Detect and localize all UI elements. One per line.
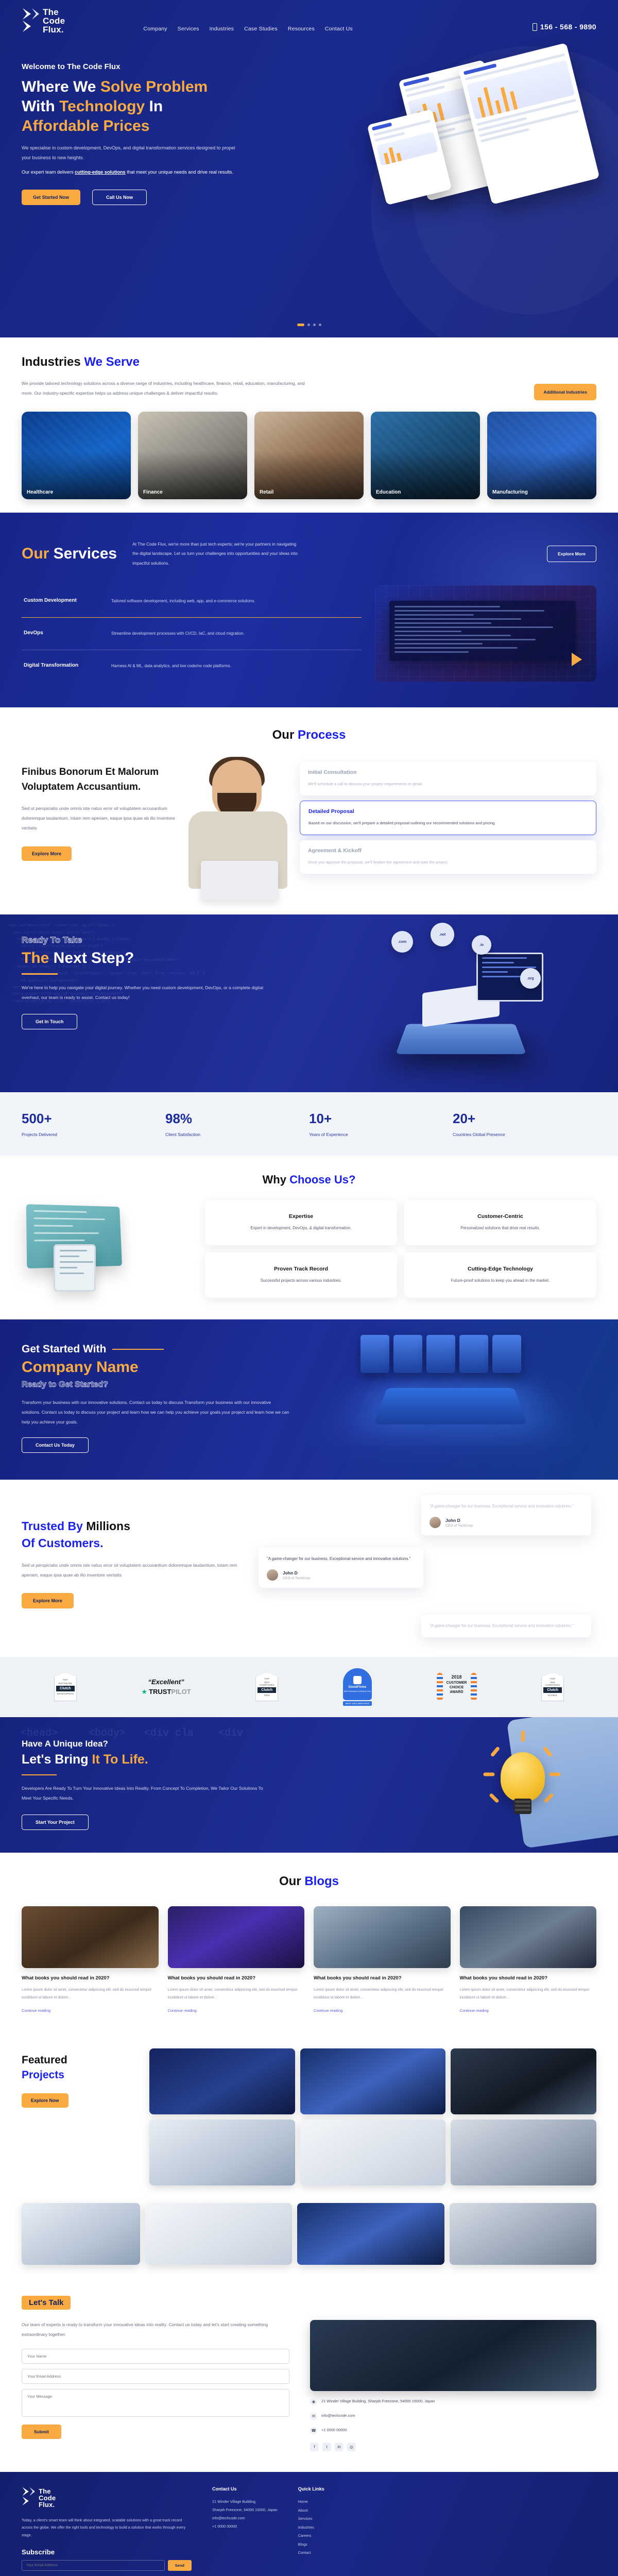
featured-title-dark: Featured xyxy=(22,2054,67,2066)
goodfirms-icon: GoodFirms B2B Research & Review Firm xyxy=(343,1668,372,1700)
blog-card-3[interactable]: What books you should read in 2020? Lore… xyxy=(314,1906,451,2014)
blogs-title-dark: Our xyxy=(279,1874,304,1888)
unique-idea-kicker: Have A Unique Idea? xyxy=(22,1739,264,1749)
testimonial-card-back-top[interactable]: "A game-changer for our business. Except… xyxy=(421,1495,591,1535)
trustpilot-star-icon: ★ xyxy=(141,1688,147,1696)
testimonial-cards: "A game-changer for our business. Except… xyxy=(259,1502,596,1641)
services-description: At The Code Flux, we're more than just t… xyxy=(132,539,302,568)
code-screen-mock xyxy=(389,601,576,661)
testimonial-quote: "A game-changer for our business. Except… xyxy=(430,1502,583,1511)
hero-headline-line2-white: With xyxy=(22,98,59,115)
blog-title: What books you should read in 2020? xyxy=(314,1975,451,1981)
stats-section: 500+ Projects Delivered 98% Client Satis… xyxy=(0,1092,618,1156)
hero-headline-line3-amber: Affordable Prices xyxy=(22,117,149,134)
next-step-headline-amber: The xyxy=(22,950,54,967)
footer-contact-item: 21 Winder Village Building, xyxy=(212,2498,278,2506)
footer-contact-item[interactable]: +1 0000 00000 xyxy=(212,2522,278,2531)
services-body: Custom Development Tailored software dev… xyxy=(22,585,596,682)
testimonial-role: CEO of TechCorp xyxy=(445,1524,473,1528)
domain-bubble-io: .io xyxy=(472,935,491,955)
idea-headline-amber: It To Life. xyxy=(92,1752,148,1767)
brand-line-2: Code xyxy=(43,16,65,25)
why-card-cutting-edge-technology[interactable]: Cutting-Edge Technology Future-proof sol… xyxy=(404,1252,596,1298)
testimonial-card-front[interactable]: "A game-changer for our business. Except… xyxy=(259,1548,423,1588)
industry-card-list: Healthcare Finance Retail Education Manu xyxy=(22,412,596,499)
lets-talk-body: Our team of experts is ready to transfor… xyxy=(22,2320,596,2451)
featured-tile-8[interactable] xyxy=(145,2203,292,2265)
nav-link-services[interactable]: Services xyxy=(178,26,199,32)
services-explore-more-button[interactable]: Explore More xyxy=(547,546,596,562)
stat-label: Client Satisfaction xyxy=(165,1132,309,1137)
hero-headline-line2-tail: In xyxy=(145,98,163,115)
mobile-phone-icon xyxy=(533,23,537,31)
featured-tile-1[interactable] xyxy=(149,2048,295,2114)
twitter-icon[interactable]: t xyxy=(322,2443,331,2451)
footer-subscribe: Subscribe Send xyxy=(22,2548,192,2571)
step-title: Detailed Proposal xyxy=(308,808,588,815)
process-title-blue: Process xyxy=(298,728,346,742)
phone-icon: ☎ xyxy=(310,2427,317,2434)
stat-value: 98% xyxy=(165,1111,309,1127)
industry-label: Retail xyxy=(260,489,273,495)
get-in-touch-button[interactable]: Get In Touch xyxy=(22,1014,77,1029)
service-text: Streamline development processes with CI… xyxy=(111,629,245,638)
trustpilot-wordmark: ★ TRUSTPILOT xyxy=(141,1688,191,1696)
featured-extra-row xyxy=(0,2203,618,2280)
featured-tile-9[interactable] xyxy=(297,2203,444,2265)
featured-tile-4[interactable] xyxy=(149,2120,295,2185)
get-started-paragraph: Transform your business with our innovat… xyxy=(22,1398,289,1427)
stat-value: 20+ xyxy=(453,1111,596,1127)
process-copy: Finibus Bonorum Et Malorum Voluptatem Ac… xyxy=(22,760,176,899)
get-started-copy: Get Started With Company Name Ready to G… xyxy=(22,1343,289,1453)
stat-value: 10+ xyxy=(309,1111,453,1127)
testimonials-explore-more-button[interactable]: Explore More xyxy=(22,1593,74,1608)
industries-title: Industries We Serve xyxy=(22,355,596,369)
footer-about: The Code Flux. Today, a client's smart t… xyxy=(22,2486,192,2571)
page-footer: The Code Flux. Today, a client's smart t… xyxy=(0,2472,618,2576)
lightbulb-icon xyxy=(489,1739,556,1826)
header-phone-number: 156 - 568 - 9890 xyxy=(540,23,596,31)
hero-copy: Welcome to The Code Flux Where We Solve … xyxy=(0,34,288,205)
footer-contact-item[interactable]: info@techcode.com xyxy=(212,2514,278,2522)
facebook-icon[interactable]: f xyxy=(310,2443,319,2451)
goodfirms-name: GoodFirms xyxy=(349,1685,367,1689)
email-field[interactable] xyxy=(22,2369,289,2384)
blog-thumbnail xyxy=(314,1906,451,1968)
additional-industries-button[interactable]: Additional Industries xyxy=(534,384,596,400)
industry-label: Healthcare xyxy=(27,489,53,495)
name-field[interactable] xyxy=(22,2349,289,2364)
next-step-paragraph: We're here to help you navigate your dig… xyxy=(22,983,264,1003)
industries-section: Industries We Serve We provide tailored … xyxy=(0,337,618,513)
why-card-expertise[interactable]: Expertise Expert in development, DevOps,… xyxy=(205,1200,397,1245)
blog-thumbnail xyxy=(168,1906,305,1968)
testimonials-title-blue-2: Of Customers. xyxy=(22,1536,103,1550)
stat-label: Countries Global Presence xyxy=(453,1132,596,1137)
trustpilot-word-b: PILOT xyxy=(171,1688,191,1696)
service-name: Digital Transformation xyxy=(24,662,111,671)
iso-card-stack xyxy=(360,1335,521,1373)
blog-title: What books you should read in 2020? xyxy=(460,1975,597,1981)
footer-top: The Code Flux. Today, a client's smart t… xyxy=(22,2486,596,2571)
clutch-shield-icon: TOP SOFTWARE Clutch DEVELOPERS xyxy=(54,1672,77,1701)
step-title: Agreement & Kickoff xyxy=(308,848,588,854)
unique-idea-headline: Let's Bring It To Life. xyxy=(22,1752,264,1767)
hero-headline-line1-amber: Solve Problem xyxy=(100,78,208,95)
next-step-illustration: .com .net .io .org xyxy=(371,932,556,1076)
lets-talk-intro: Our team of experts is ready to transfor… xyxy=(22,2320,289,2340)
process-person-photo xyxy=(181,760,295,899)
blogs-title-blue: Blogs xyxy=(304,1874,339,1888)
why-title-dark: Why xyxy=(263,1173,290,1186)
badge-brand: Clutch xyxy=(56,1686,75,1691)
blogs-section: Our Blogs What books you should read in … xyxy=(0,1853,618,2035)
badge-brand: Clutch xyxy=(257,1687,276,1693)
footer-contact-column: Contact Us 21 Winder Village Building, S… xyxy=(212,2486,278,2571)
goodfirms-logo-mark xyxy=(353,1676,362,1684)
testimonial-quote: "A game-changer for our business. Except… xyxy=(267,1555,415,1563)
featured-tile-10[interactable] xyxy=(450,2203,596,2265)
nav-link-contact-us[interactable]: Contact Us xyxy=(325,26,353,32)
footer-quick-heading: Quick Links xyxy=(298,2486,375,2492)
domain-bubble-com: .com xyxy=(391,931,413,953)
award-badge-clutch-b2b: TOP B2B COMPANIES Clutch GLOBAL xyxy=(541,1672,564,1701)
instagram-icon[interactable]: ◎ xyxy=(347,2443,356,2451)
badge-top: TOP xyxy=(550,1677,555,1680)
contact-phone[interactable]: ☎ +1 0000 00000 xyxy=(310,2427,596,2434)
domain-bubble-net: .net xyxy=(431,923,454,946)
footer-brand-logo[interactable]: The Code Flux. xyxy=(22,2486,192,2510)
industry-card-retail[interactable]: Retail xyxy=(254,412,364,499)
industry-label: Finance xyxy=(143,489,163,495)
footer-link-industries[interactable]: Industries xyxy=(298,2523,375,2532)
why-card-text: Expert in development, DevOps, & digital… xyxy=(213,1224,389,1232)
why-card-text: Personalized solutions that drive real r… xyxy=(413,1224,588,1232)
blog-card-2[interactable]: What books you should read in 2020? Lore… xyxy=(168,1906,305,2014)
stat-years-of-experience: 10+ Years of Experience xyxy=(309,1111,453,1137)
process-step-detailed-proposal[interactable]: Detailed Proposal Based on our discussio… xyxy=(300,801,596,835)
testimonials-paragraph: Sed ut perspiciatis unde omnis iste natu… xyxy=(22,1561,243,1580)
testimonials-copy: Trusted By Millions Of Customers. Sed ut… xyxy=(22,1502,243,1641)
industry-label: Manufacturing xyxy=(492,489,528,495)
process-paragraph: Sed ut perspiciatis unde omnis iste natu… xyxy=(22,804,176,833)
glowing-platform xyxy=(374,1388,527,1425)
footer-link-blogs[interactable]: Blogs xyxy=(298,2540,375,2549)
get-started-kicker: Get Started With xyxy=(22,1343,106,1355)
award-badge-customer-choice: 2018 CUSTOMER CHOICE AWARD xyxy=(437,1671,477,1703)
step-title: Initial Consultation xyxy=(308,769,588,775)
hero-headline-line2-amber: Technology xyxy=(59,98,145,115)
badge-sub: SEO COMPANIES xyxy=(257,1681,276,1686)
message-field[interactable] xyxy=(22,2389,289,2417)
nav-link-industries[interactable]: Industries xyxy=(210,26,234,32)
contact-social-links: f t in ◎ xyxy=(310,2443,596,2451)
carousel-dot-4[interactable] xyxy=(319,324,321,326)
industries-title-blue: We Serve xyxy=(84,355,140,369)
footer-link-services[interactable]: Services xyxy=(298,2515,375,2523)
goodfirms-tag: B2B Research & Review Firm xyxy=(344,1690,371,1692)
why-title-blue: Choose Us? xyxy=(289,1173,355,1186)
phone-mockup xyxy=(54,1244,96,1292)
process-title: Our Process xyxy=(22,728,596,742)
featured-title-blue: Projects xyxy=(22,2069,64,2081)
service-row-devops[interactable]: DevOps Streamline development processes … xyxy=(22,617,362,650)
start-your-project-button[interactable]: Start Your Project xyxy=(22,1815,89,1830)
contact-address: ◉ 21 Winder Village Building, Sharjah Fr… xyxy=(310,2398,596,2405)
trustpilot-excellent: “Excellent” xyxy=(148,1678,184,1686)
featured-projects-section: Featured Projects Explore Now xyxy=(0,2035,618,2203)
contact-phone-text: +1 0000 00000 xyxy=(321,2427,347,2434)
kicker-underline xyxy=(112,1349,164,1350)
avatar xyxy=(430,1517,441,1528)
footer-link-about[interactable]: About xyxy=(298,2506,375,2515)
contact-photo xyxy=(310,2320,596,2391)
chevron-logo-icon xyxy=(22,2486,35,2510)
carousel-dot-3[interactable] xyxy=(313,324,316,326)
industry-card-healthcare[interactable]: Healthcare xyxy=(22,412,131,499)
footer-link-home[interactable]: Home xyxy=(298,2498,375,2506)
get-started-kicker-row: Get Started With xyxy=(22,1343,289,1355)
services-section: Our Services At The Code Flux, we're mor… xyxy=(0,513,618,707)
award-badge-trustpilot: “Excellent” ★ TRUSTPILOT xyxy=(141,1678,191,1696)
header-phone[interactable]: 156 - 568 - 9890 xyxy=(533,23,596,31)
testimonial-name: John D xyxy=(283,1570,310,1575)
nav-link-company[interactable]: Company xyxy=(143,26,167,32)
badge-sub: SOFTWARE xyxy=(58,1682,72,1685)
stat-projects-delivered: 500+ Projects Delivered xyxy=(22,1111,165,1137)
process-steps: Initial Consultation We'll schedule a ca… xyxy=(300,760,596,899)
award-badge-clutch-software: TOP SOFTWARE Clutch DEVELOPERS xyxy=(54,1672,77,1701)
hero-paragraph-2: Our expert team delivers cutting-edge so… xyxy=(22,167,243,177)
iso-platform xyxy=(396,1024,526,1055)
play-triangle-icon[interactable] xyxy=(572,653,582,666)
domain-bubble-org: .org xyxy=(520,968,541,989)
footer-contact-item: Sharjah Freezone, 54000 15000, Japan xyxy=(212,2506,278,2514)
subscribe-input[interactable] xyxy=(22,2560,165,2571)
why-card-title: Expertise xyxy=(213,1213,389,1219)
footer-quick-links-column: Quick Links Home About Services Industri… xyxy=(298,2486,375,2571)
process-step-agreement-kickoff[interactable]: Agreement & Kickoff Once you approve the… xyxy=(300,840,596,874)
hero-headline-line1-white: Where We xyxy=(22,78,100,95)
blog-title: What books you should read in 2020? xyxy=(168,1975,305,1981)
next-step-rule xyxy=(22,973,58,975)
testimonials-title-blue: Trusted By xyxy=(22,1519,86,1533)
location-pin-icon: ◉ xyxy=(310,2398,317,2405)
footer-contact-heading: Contact Us xyxy=(212,2486,278,2492)
testimonials-section: Trusted By Millions Of Customers. Sed ut… xyxy=(0,1480,618,1657)
footer-link-contact[interactable]: Contact xyxy=(298,2549,375,2557)
step-text: Once you approve the proposal, we'll fin… xyxy=(308,858,588,867)
testimonial-role: CEO of TechCorp xyxy=(283,1577,310,1580)
hero-paragraph-2-pre: Our expert team delivers xyxy=(22,170,75,175)
blog-thumbnail xyxy=(460,1906,597,1968)
person-laptop xyxy=(201,861,278,900)
nav-link-case-studies[interactable]: Case Studies xyxy=(244,26,278,32)
unique-idea-paragraph: Developers Are Ready To Turn Your Innova… xyxy=(22,1784,264,1803)
submit-button[interactable]: Submit xyxy=(22,2425,61,2439)
featured-grid-wrapper xyxy=(149,2048,596,2185)
blog-continue-reading-link[interactable]: Continue reading xyxy=(314,2008,342,2013)
carousel-dot-2[interactable] xyxy=(307,324,310,326)
testimonials-title-dark: Millions xyxy=(86,1519,130,1533)
why-choose-body: Expertise Expert in development, DevOps,… xyxy=(22,1200,596,1298)
chevron-logo-icon xyxy=(22,7,39,34)
get-started-subheading: Ready to Get Started? xyxy=(22,1380,289,1389)
why-card-text: Successful projects across various indus… xyxy=(213,1277,389,1285)
blog-excerpt: Lorem ipsum dolor sit amet, consectetur … xyxy=(460,1986,597,2001)
featured-grid-row-1 xyxy=(149,2048,596,2114)
footer-brand-name: The Code Flux. xyxy=(39,2488,56,2508)
blog-excerpt: Lorem ipsum dolor sit amet, consectetur … xyxy=(168,1986,305,2001)
process-explore-more-button[interactable]: Explore More xyxy=(22,846,72,861)
blog-continue-reading-link[interactable]: Continue reading xyxy=(22,2008,50,2013)
award-badge-goodfirms: GoodFirms B2B Research & Review Firm BES… xyxy=(343,1668,372,1706)
process-heading: Finibus Bonorum Et Malorum Voluptatem Ac… xyxy=(22,765,176,794)
hero-paragraph-1: We specialise in custom development, Dev… xyxy=(22,143,243,162)
contact-email-text: info@techcode.com xyxy=(321,2413,355,2419)
linkedin-icon[interactable]: in xyxy=(335,2443,344,2451)
award-badge-clutch-seo: TOP SEO COMPANIES Clutch 2020 xyxy=(255,1672,278,1701)
industry-card-finance[interactable]: Finance xyxy=(138,412,247,499)
subscribe-label: Subscribe xyxy=(22,2548,192,2556)
badge-sub: B2B COMPANIES xyxy=(543,1681,562,1686)
service-row-custom-development[interactable]: Custom Development Tailored software dev… xyxy=(22,585,362,617)
unique-idea-section: <head> <body> <div cla <div Have A Uniqu… xyxy=(0,1717,618,1853)
page-root: The Code Flux. Company Services Industri… xyxy=(0,0,618,2576)
blog-excerpt: Lorem ipsum dolor sit amet, consectetur … xyxy=(314,1986,451,2001)
nav-links: Company Services Industries Case Studies… xyxy=(143,26,353,32)
next-step-section: <div id="devtn-core" class="slab" ng-if=… xyxy=(0,914,618,1092)
brand-logo[interactable]: The Code Flux. xyxy=(22,7,65,34)
trustpilot-word-a: TRUST xyxy=(149,1688,171,1696)
testimonial-card-back-bottom[interactable]: "A game-changer for our business. Except… xyxy=(421,1615,591,1637)
why-choose-illustration xyxy=(22,1200,192,1298)
get-started-illustration xyxy=(294,1330,618,1480)
step-text: We'll schedule a call to discuss your pr… xyxy=(308,780,588,788)
hero-paragraph-2-post: that meet your unique needs and drive re… xyxy=(126,170,233,175)
why-card-customer-centric[interactable]: Customer-Centric Personalized solutions … xyxy=(404,1200,596,1245)
services-title-white: Services xyxy=(54,545,117,562)
hero-carousel-dots[interactable] xyxy=(0,324,618,326)
featured-tile-5[interactable] xyxy=(300,2120,446,2185)
testimonial-author: John D CEO of TechCorp xyxy=(430,1517,583,1528)
testimonial-author: John D CEO of TechCorp xyxy=(267,1569,415,1581)
hero-headline: Where We Solve Problem With Technology I… xyxy=(22,77,288,135)
industry-label: Education xyxy=(376,489,401,495)
blog-card-4[interactable]: What books you should read in 2020? Lore… xyxy=(460,1906,597,2014)
featured-projects-title: Featured Projects xyxy=(22,2053,140,2083)
services-list: Custom Development Tailored software dev… xyxy=(22,585,362,682)
brand-name: The Code Flux. xyxy=(43,8,65,34)
bulb-base xyxy=(514,1799,531,1814)
get-started-now-button[interactable]: Get Started Now xyxy=(22,190,80,205)
brand-line-1: The xyxy=(43,8,65,16)
featured-tile-2[interactable] xyxy=(300,2048,446,2114)
badge-bottom: 2020 xyxy=(264,1694,270,1697)
why-card-title: Cutting-Edge Technology xyxy=(413,1266,588,1272)
featured-tile-3[interactable] xyxy=(451,2048,596,2114)
featured-tile-7[interactable] xyxy=(22,2203,140,2265)
featured-grid-row-2 xyxy=(149,2120,596,2185)
industries-title-dark: Industries xyxy=(22,355,84,369)
footer-about-text: Today, a client's smart team will think … xyxy=(22,2517,192,2539)
services-title: Our Services xyxy=(22,545,117,563)
industries-header-row: We provide tailored technology solutions… xyxy=(22,369,596,400)
stat-label: Years of Experience xyxy=(309,1132,453,1137)
stat-client-satisfaction: 98% Client Satisfaction xyxy=(165,1111,309,1137)
testimonial-quote: "A game-changer for our business. Except… xyxy=(430,1622,583,1630)
footer-brand-line-3: Flux. xyxy=(39,2501,56,2508)
contact-address-text: 21 Winder Village Building, Sharjah Free… xyxy=(321,2398,435,2405)
main-navigation: The Code Flux. Company Services Industri… xyxy=(0,0,618,34)
why-card-proven-track-record[interactable]: Proven Track Record Successful projects … xyxy=(205,1252,397,1298)
process-body: Finibus Bonorum Et Malorum Voluptatem Ac… xyxy=(22,760,596,899)
contact-form: Our team of experts is ready to transfor… xyxy=(22,2320,289,2451)
services-header: Our Services At The Code Flux, we're mor… xyxy=(22,539,596,568)
why-card-title: Customer-Centric xyxy=(413,1213,588,1219)
call-us-now-button[interactable]: Call Us Now xyxy=(92,190,147,205)
services-title-amber: Our xyxy=(22,545,54,562)
next-step-headline: The Next Step? xyxy=(22,950,264,967)
contact-email[interactable]: ✉ info@techcode.com xyxy=(310,2413,596,2420)
industry-card-manufacturing[interactable]: Manufacturing xyxy=(487,412,596,499)
get-started-company: Company Name xyxy=(22,1359,289,1376)
goodfirms-ribbon: BEST SEO SERVICES xyxy=(343,1701,372,1706)
badge-bottom: DEVELOPERS xyxy=(57,1692,74,1695)
service-row-digital-transformation[interactable]: Digital Transformation Harness AI & ML, … xyxy=(22,650,362,682)
blog-card-1[interactable]: What books you should read in 2020? Lore… xyxy=(22,1906,159,2014)
get-started-section: Get Started With Company Name Ready to G… xyxy=(0,1319,618,1480)
idea-rule xyxy=(22,1774,57,1776)
lets-talk-badge: Let's Talk xyxy=(22,2296,71,2310)
testimonial-name: John D xyxy=(445,1518,473,1523)
testimonials-title: Trusted By Millions Of Customers. xyxy=(22,1518,243,1552)
nav-link-resources[interactable]: Resources xyxy=(288,26,315,32)
service-name: Custom Development xyxy=(24,597,111,606)
featured-tile-6[interactable] xyxy=(451,2120,596,2185)
clutch-shield-icon: TOP SEO COMPANIES Clutch 2020 xyxy=(255,1672,278,1701)
why-choose-title: Why Choose Us? xyxy=(22,1173,596,1187)
contact-us-today-button[interactable]: Contact Us Today xyxy=(22,1437,89,1453)
carousel-dot-1[interactable] xyxy=(297,324,304,326)
process-step-initial-consultation[interactable]: Initial Consultation We'll schedule a ca… xyxy=(300,762,596,795)
featured-projects-copy: Featured Projects Explore Now xyxy=(22,2048,140,2185)
next-step-copy: Ready To Take The Next Step? We're here … xyxy=(22,935,264,1029)
mail-icon: ✉ xyxy=(310,2413,317,2420)
subscribe-button[interactable]: Send xyxy=(168,2560,192,2571)
contact-details: ◉ 21 Winder Village Building, Sharjah Fr… xyxy=(310,2320,596,2451)
blog-continue-reading-link[interactable]: Continue reading xyxy=(168,2008,197,2013)
idea-headline-white: Let's Bring xyxy=(22,1752,92,1767)
stat-label: Projects Delivered xyxy=(22,1132,165,1137)
hero-kicker: Welcome to The Code Flux xyxy=(22,62,288,71)
footer-link-careers[interactable]: Careers xyxy=(298,2532,375,2540)
next-step-headline-white: Next Step? xyxy=(54,950,134,967)
avatar xyxy=(267,1569,278,1581)
industry-card-education[interactable]: Education xyxy=(371,412,480,499)
process-title-dark: Our xyxy=(272,728,298,742)
blogs-title: Our Blogs xyxy=(22,1874,596,1889)
process-section: Our Process Finibus Bonorum Et Malorum V… xyxy=(0,707,618,914)
why-choose-us-section: Why Choose Us? Expertise Expert in devel… xyxy=(0,1156,618,1319)
why-card-title: Proven Track Record xyxy=(213,1266,389,1272)
explore-now-button[interactable]: Explore Now xyxy=(22,2093,68,2108)
awards-badges-section: TOP SOFTWARE Clutch DEVELOPERS “Excellen… xyxy=(0,1657,618,1717)
hero-paragraph-2-link[interactable]: cutting-edge solutions xyxy=(75,170,126,175)
blog-continue-reading-link[interactable]: Continue reading xyxy=(460,2008,489,2013)
badge-top: TOP xyxy=(63,1679,68,1681)
